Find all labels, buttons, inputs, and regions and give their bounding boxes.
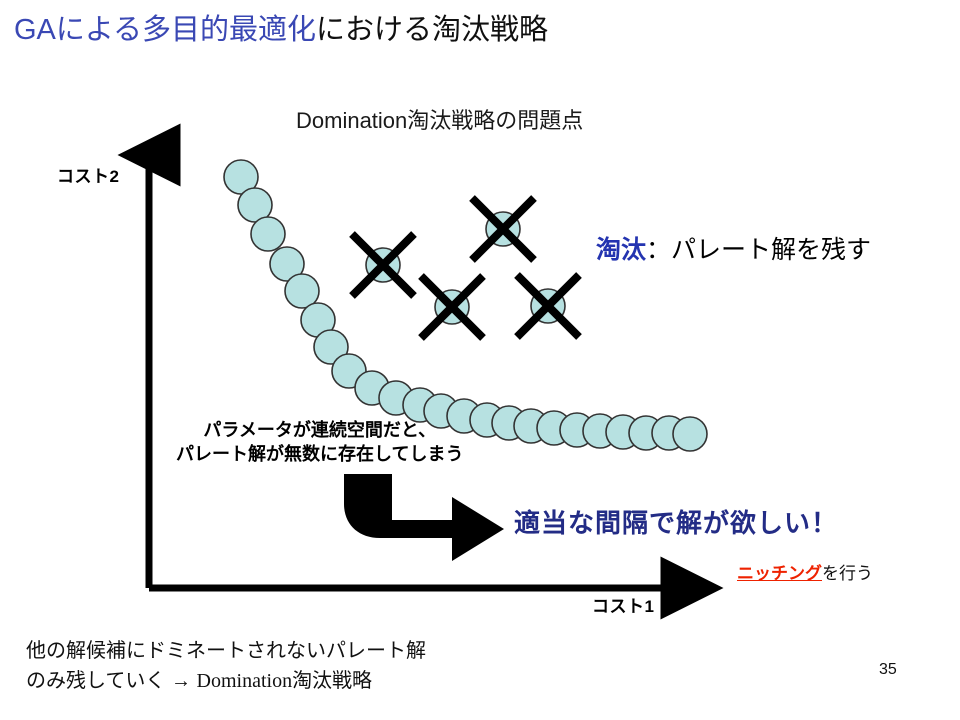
- slide-canvas: GAによる多目的最適化における淘汰戦略 Domination淘汰戦略の問題点: [0, 0, 960, 720]
- solution-marker: [301, 303, 335, 337]
- page-title-blue: GAによる多目的最適化: [14, 14, 316, 46]
- solution-marker: [314, 330, 348, 364]
- x-axis-label: コスト1: [592, 592, 654, 617]
- annotation-elimination-keyword: 淘汰: [596, 236, 646, 264]
- solution-marker: [285, 274, 319, 308]
- bent-arrow-icon: [344, 474, 504, 561]
- annotation-niching-rest: を行う: [822, 564, 873, 583]
- footer-note-line2-suffix: 淘汰戦略: [292, 670, 372, 692]
- cross-mark-icon: [352, 234, 414, 296]
- solution-marker: [652, 416, 686, 450]
- chart-subtitle: Domination淘汰戦略の問題点: [296, 107, 583, 135]
- solution-marker: [355, 371, 389, 405]
- footer-note-line1: 他の解候補にドミネートされないパレート解: [26, 640, 426, 662]
- elimination-cross-marks: [352, 198, 579, 338]
- solution-marker: [470, 403, 504, 437]
- solution-marker: [583, 414, 617, 448]
- solution-marker: [537, 411, 571, 445]
- annotation-niching-keyword: ニッチング: [737, 564, 822, 583]
- solution-marker: [629, 416, 663, 450]
- solution-marker: [606, 415, 640, 449]
- annotation-elimination: 淘汰：パレート解を残す: [596, 234, 871, 266]
- solution-marker: [673, 417, 707, 451]
- cross-mark-icon: [517, 275, 579, 337]
- page-title-black: における淘汰戦略: [316, 14, 548, 46]
- solution-marker: [270, 247, 304, 281]
- cross-mark-icon: [472, 198, 534, 260]
- solution-marker: [531, 289, 565, 323]
- solution-marker: [514, 409, 548, 443]
- annotation-want-spacing: 適当な間隔で解が欲しい！: [514, 506, 838, 540]
- annotation-elimination-rest: ：パレート解を残す: [646, 236, 871, 264]
- solution-marker: [366, 248, 400, 282]
- solution-marker: [486, 212, 520, 246]
- solution-marker: [224, 160, 258, 194]
- solution-marker: [560, 413, 594, 447]
- solution-marker: [379, 381, 413, 415]
- y-axis-label: コスト2: [57, 162, 119, 187]
- footer-note: 他の解候補にドミネートされないパレート解 のみ残していく → Dominatio…: [26, 636, 426, 696]
- solution-marker: [435, 290, 469, 324]
- dominated-solution-markers: [366, 212, 565, 324]
- solution-marker: [332, 354, 366, 388]
- page-title: GAによる多目的最適化における淘汰戦略: [14, 12, 548, 48]
- solution-marker: [492, 406, 526, 440]
- annotation-continuous-line2: パレート解が無数に存在してしまう: [176, 442, 463, 466]
- annotation-continuous-space: パラメータが連続空間だと、 パレート解が無数に存在してしまう: [176, 418, 463, 466]
- solution-marker: [238, 188, 272, 222]
- annotation-niching: ニッチングを行う: [737, 562, 873, 586]
- pareto-solution-markers: [224, 160, 707, 451]
- footer-note-line2-serif: Domination: [197, 670, 293, 692]
- annotation-continuous-line1: パラメータが連続空間だと、: [203, 420, 436, 440]
- footer-note-line2: のみ残していく → Domination淘汰戦略: [26, 666, 426, 696]
- cross-mark-icon: [421, 276, 483, 338]
- solution-marker: [403, 388, 437, 422]
- footer-note-line2-prefix: のみ残していく →: [26, 670, 197, 692]
- solution-marker: [251, 217, 285, 251]
- page-number: 35: [879, 661, 897, 679]
